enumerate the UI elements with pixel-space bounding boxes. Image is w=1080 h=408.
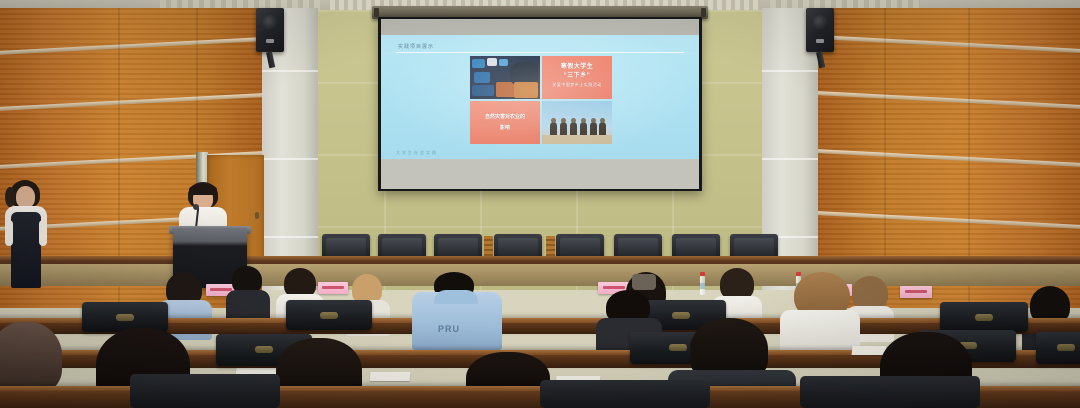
- right-wall-speaker: [806, 8, 834, 52]
- seatback: [540, 380, 710, 408]
- paper-sheet: [852, 346, 887, 355]
- seatback: [130, 374, 280, 408]
- lecture-hall-photo: 实践项目展示 寒假大学生 “三下乡” 关爱中国梦乡土实践活动 自然灾害对农业的 …: [0, 0, 1080, 408]
- screen-unlit-top: [381, 19, 699, 35]
- projector-light-glow: [381, 35, 699, 159]
- hoodie-graphic-text: PRU: [438, 324, 460, 334]
- seatback: [800, 376, 980, 408]
- screen-unlit-bottom: [381, 159, 699, 189]
- microphone-head-icon: [193, 204, 199, 210]
- head-table-edge: [0, 256, 1080, 260]
- stage-front-panel: [0, 264, 1080, 286]
- speaker-cone-icon: [812, 15, 828, 31]
- door-handle: [255, 212, 259, 219]
- left-wall-speaker: [256, 8, 284, 52]
- speaker-cone-icon: [262, 15, 278, 31]
- paper-sheet: [370, 372, 411, 381]
